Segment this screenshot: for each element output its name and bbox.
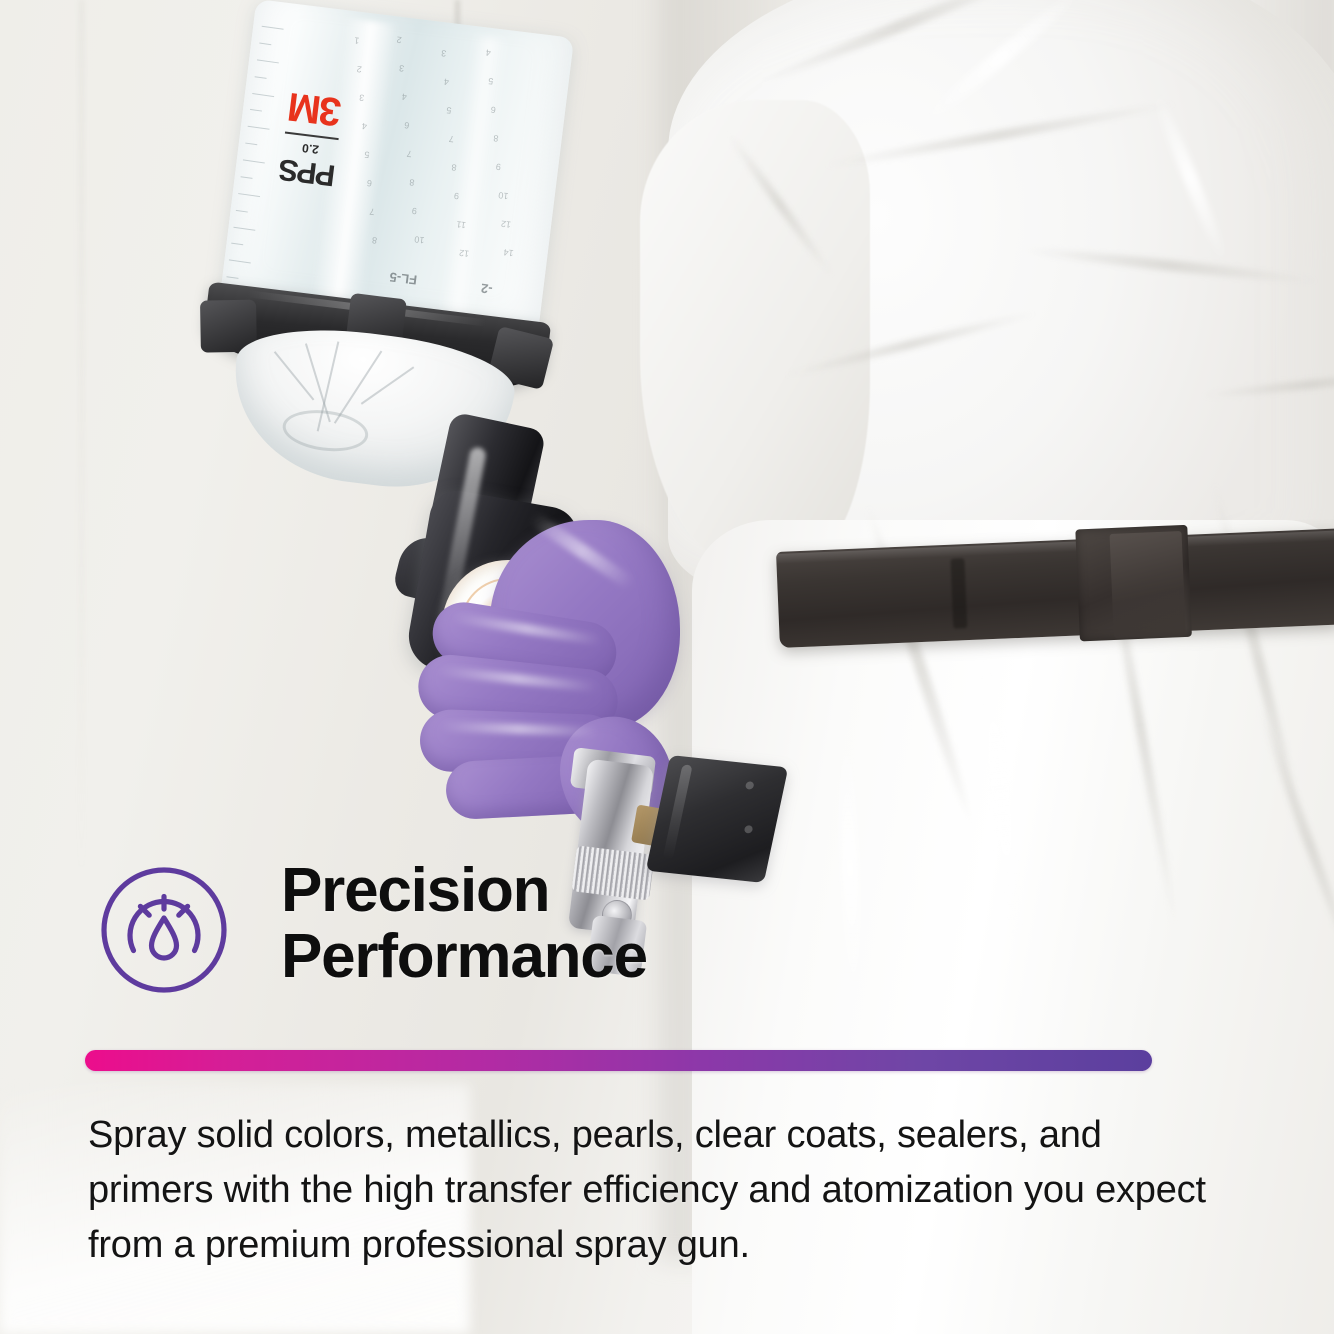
cup-marking-secondary: -2 bbox=[480, 281, 493, 297]
gradient-divider bbox=[85, 1050, 1152, 1071]
belt-notch bbox=[950, 558, 967, 629]
cup-marking-fluid-level: FL-5 bbox=[389, 269, 418, 287]
page-title: Precision Performance bbox=[281, 858, 647, 989]
feature-description: Spray solid colors, metallics, pearls, c… bbox=[88, 1108, 1228, 1273]
gauge-droplet-icon bbox=[96, 862, 232, 998]
belt-buckle-latch bbox=[1110, 531, 1186, 638]
cup-volume-chart: 12 34 23 45 34 56 46 78 57 89 68 910 79 … bbox=[321, 29, 550, 302]
3m-logo: 3M bbox=[285, 86, 345, 132]
backdrop-seam-secondary bbox=[80, 0, 83, 880]
cup-branding: PPS 2.0 3M bbox=[278, 86, 345, 190]
feature-card: 12 34 23 45 34 56 46 78 57 89 68 910 79 … bbox=[0, 0, 1334, 1334]
gauge-glass-highlight bbox=[663, 764, 693, 859]
pressure-gauge bbox=[646, 755, 789, 883]
pps-wordmark: PPS bbox=[278, 153, 337, 190]
